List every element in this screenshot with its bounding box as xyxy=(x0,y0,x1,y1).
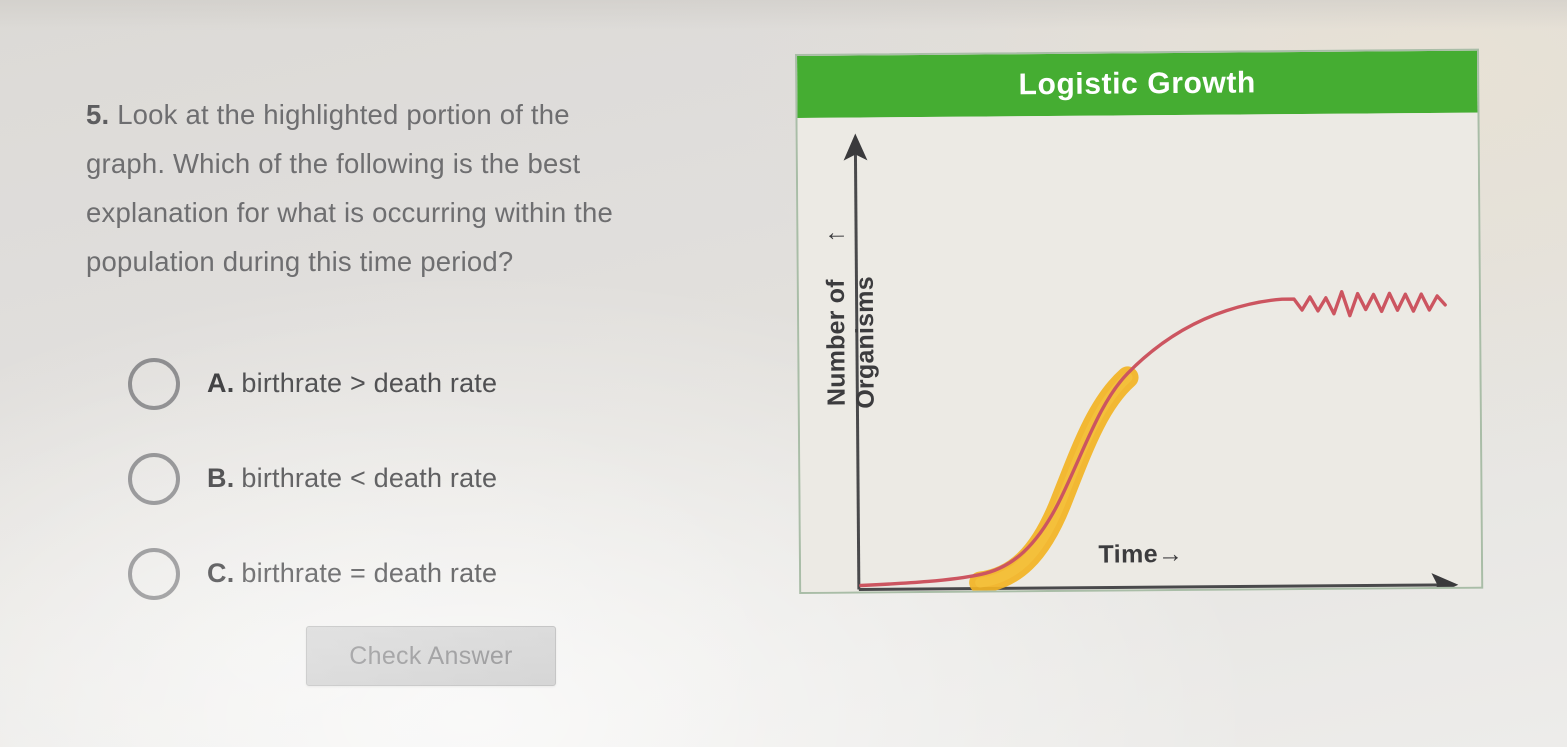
x-axis-label-text: Time xyxy=(1098,540,1158,568)
option-letter-b: B. xyxy=(207,463,234,493)
question-block: 5. Look at the highlighted portion of th… xyxy=(86,90,746,286)
option-letter-c: C. xyxy=(207,558,234,588)
arrow-up-icon: ↑ xyxy=(821,230,850,243)
photo-top-edge-shadow xyxy=(0,0,1567,30)
logistic-growth-chart-card: Logistic Growth xyxy=(795,49,1483,594)
x-axis-label: Time→ xyxy=(801,538,1481,572)
option-letter-a: A. xyxy=(207,368,234,398)
chart-title: Logistic Growth xyxy=(1018,66,1256,102)
question-line-2: graph. Which of the following is the bes… xyxy=(86,139,746,188)
option-text-a: birthrate > death rate xyxy=(241,368,497,398)
radio-button-icon-b[interactable] xyxy=(128,453,180,505)
option-row-c[interactable]: C.birthrate = death rate xyxy=(128,526,748,621)
option-row-a[interactable]: A.birthrate > death rate xyxy=(128,336,748,431)
question-number: 5. xyxy=(86,99,109,130)
question-line-3: explanation for what is occurring within… xyxy=(86,188,746,237)
question-line-4: population during this time period? xyxy=(86,237,746,286)
option-label-c: C.birthrate = death rate xyxy=(207,558,497,589)
question-text-line-1: Look at the highlighted portion of the xyxy=(117,99,570,130)
page-background: 5. Look at the highlighted portion of th… xyxy=(0,0,1567,747)
y-axis-label: Number of Organisms xyxy=(821,212,881,472)
check-answer-button[interactable]: Check Answer xyxy=(306,626,556,686)
arrow-right-icon: → xyxy=(1158,540,1184,568)
option-label-a: A.birthrate > death rate xyxy=(207,368,497,399)
radio-button-icon-a[interactable] xyxy=(128,358,180,410)
x-axis xyxy=(859,585,1452,590)
option-text-c: birthrate = death rate xyxy=(241,558,497,588)
answer-options-list: A.birthrate > death rate B.birthrate < d… xyxy=(128,336,748,621)
question-line-1: 5. Look at the highlighted portion of th… xyxy=(86,90,746,139)
option-text-b: birthrate < death rate xyxy=(241,463,497,493)
option-row-b[interactable]: B.birthrate < death rate xyxy=(128,431,748,526)
option-label-b: B.birthrate < death rate xyxy=(207,463,497,494)
radio-button-icon-c[interactable] xyxy=(128,548,180,600)
chart-plot-area: Number of Organisms ↑ Time→ xyxy=(798,113,1482,594)
chart-title-banner: Logistic Growth xyxy=(797,51,1477,118)
logistic-growth-plot xyxy=(798,113,1482,594)
